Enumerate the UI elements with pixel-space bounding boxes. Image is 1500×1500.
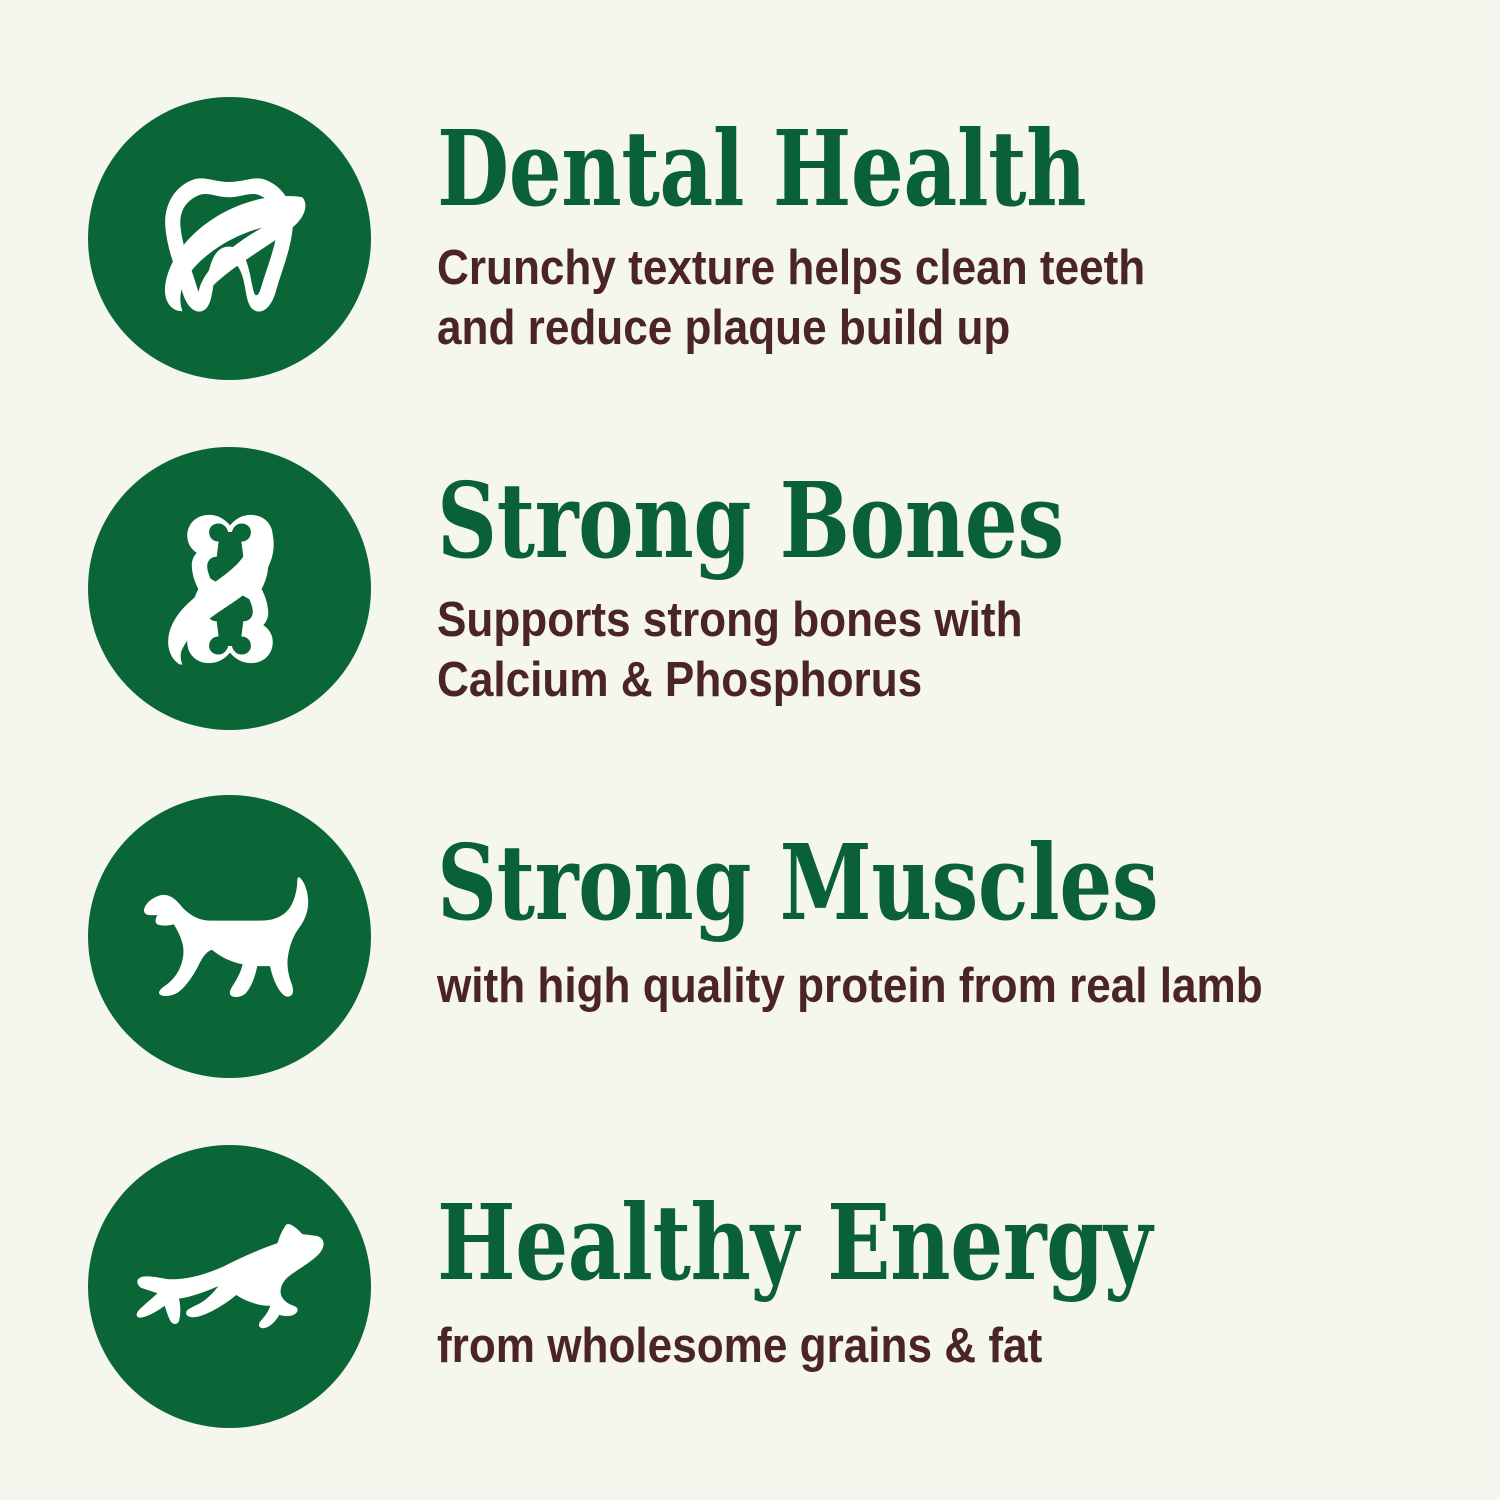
benefit-item-strong-bones: Strong Bones Supports strong bones with … [0, 447, 1500, 730]
tooth-leaf-icon [135, 144, 325, 334]
benefit-description: with high quality protein from real lamb [437, 935, 1394, 1017]
benefit-text-column: Healthy Energy from wholesome grains & f… [437, 1145, 1500, 1377]
benefit-icon-badge [88, 447, 371, 730]
benefit-icon-badge [88, 795, 371, 1078]
benefit-title: Healthy Energy [437, 1191, 1287, 1295]
benefit-title: Dental Health [437, 117, 1287, 221]
benefit-title: Strong Muscles [437, 831, 1287, 935]
benefit-icon-badge [88, 1145, 371, 1428]
benefit-description: from wholesome grains & fat [437, 1295, 1394, 1377]
benefit-text-column: Dental Health Crunchy texture helps clea… [437, 97, 1500, 359]
benefit-icon-badge [88, 97, 371, 380]
standing-dog-icon [130, 837, 330, 1037]
benefit-description: Crunchy texture helps clean teeth and re… [437, 221, 1394, 359]
benefit-description: Supports strong bones with Calcium & Pho… [437, 573, 1394, 711]
benefit-text-column: Strong Muscles with high quality protein… [437, 795, 1500, 1017]
benefit-item-dental-health: Dental Health Crunchy texture helps clea… [0, 97, 1500, 380]
benefit-item-strong-muscles: Strong Muscles with high quality protein… [0, 795, 1500, 1078]
leaping-dog-icon [127, 1184, 333, 1390]
benefit-title: Strong Bones [437, 469, 1287, 573]
benefits-panel: Dental Health Crunchy texture helps clea… [0, 0, 1500, 1500]
bone-swoosh-icon [135, 494, 325, 684]
benefit-item-healthy-energy: Healthy Energy from wholesome grains & f… [0, 1145, 1500, 1428]
benefit-text-column: Strong Bones Supports strong bones with … [437, 447, 1500, 711]
